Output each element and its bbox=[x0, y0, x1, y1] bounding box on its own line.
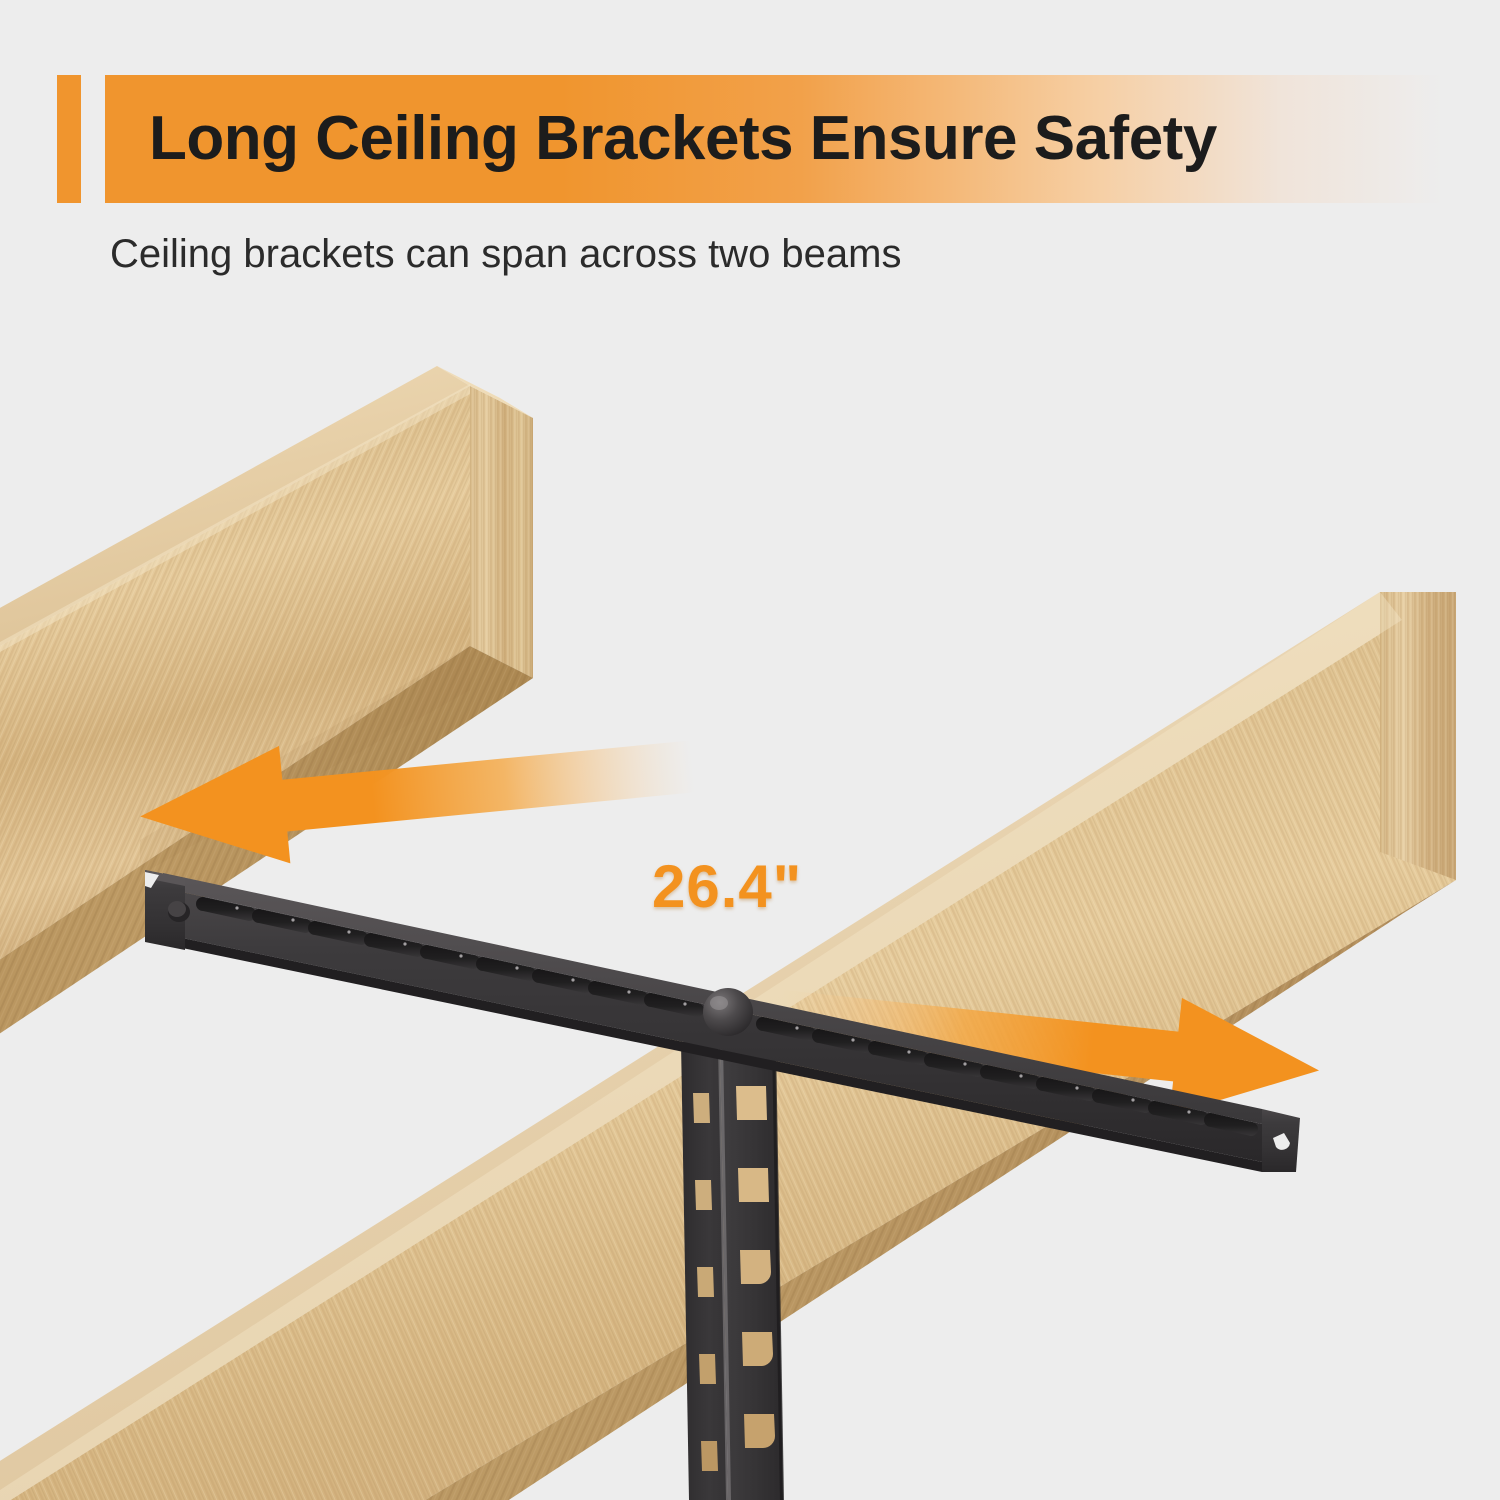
page-title: Long Ceiling Brackets Ensure Safety bbox=[149, 108, 1217, 170]
accent-bar bbox=[57, 75, 81, 203]
ball-pivot-joint bbox=[703, 988, 753, 1036]
page-subtitle: Ceiling brackets can span across two bea… bbox=[110, 232, 901, 277]
title-banner: Long Ceiling Brackets Ensure Safety bbox=[105, 75, 1443, 203]
header-block: Long Ceiling Brackets Ensure Safety Ceil… bbox=[0, 0, 1500, 300]
vertical-extension-post bbox=[681, 1042, 784, 1500]
dimension-label: 26.4" bbox=[652, 852, 802, 921]
